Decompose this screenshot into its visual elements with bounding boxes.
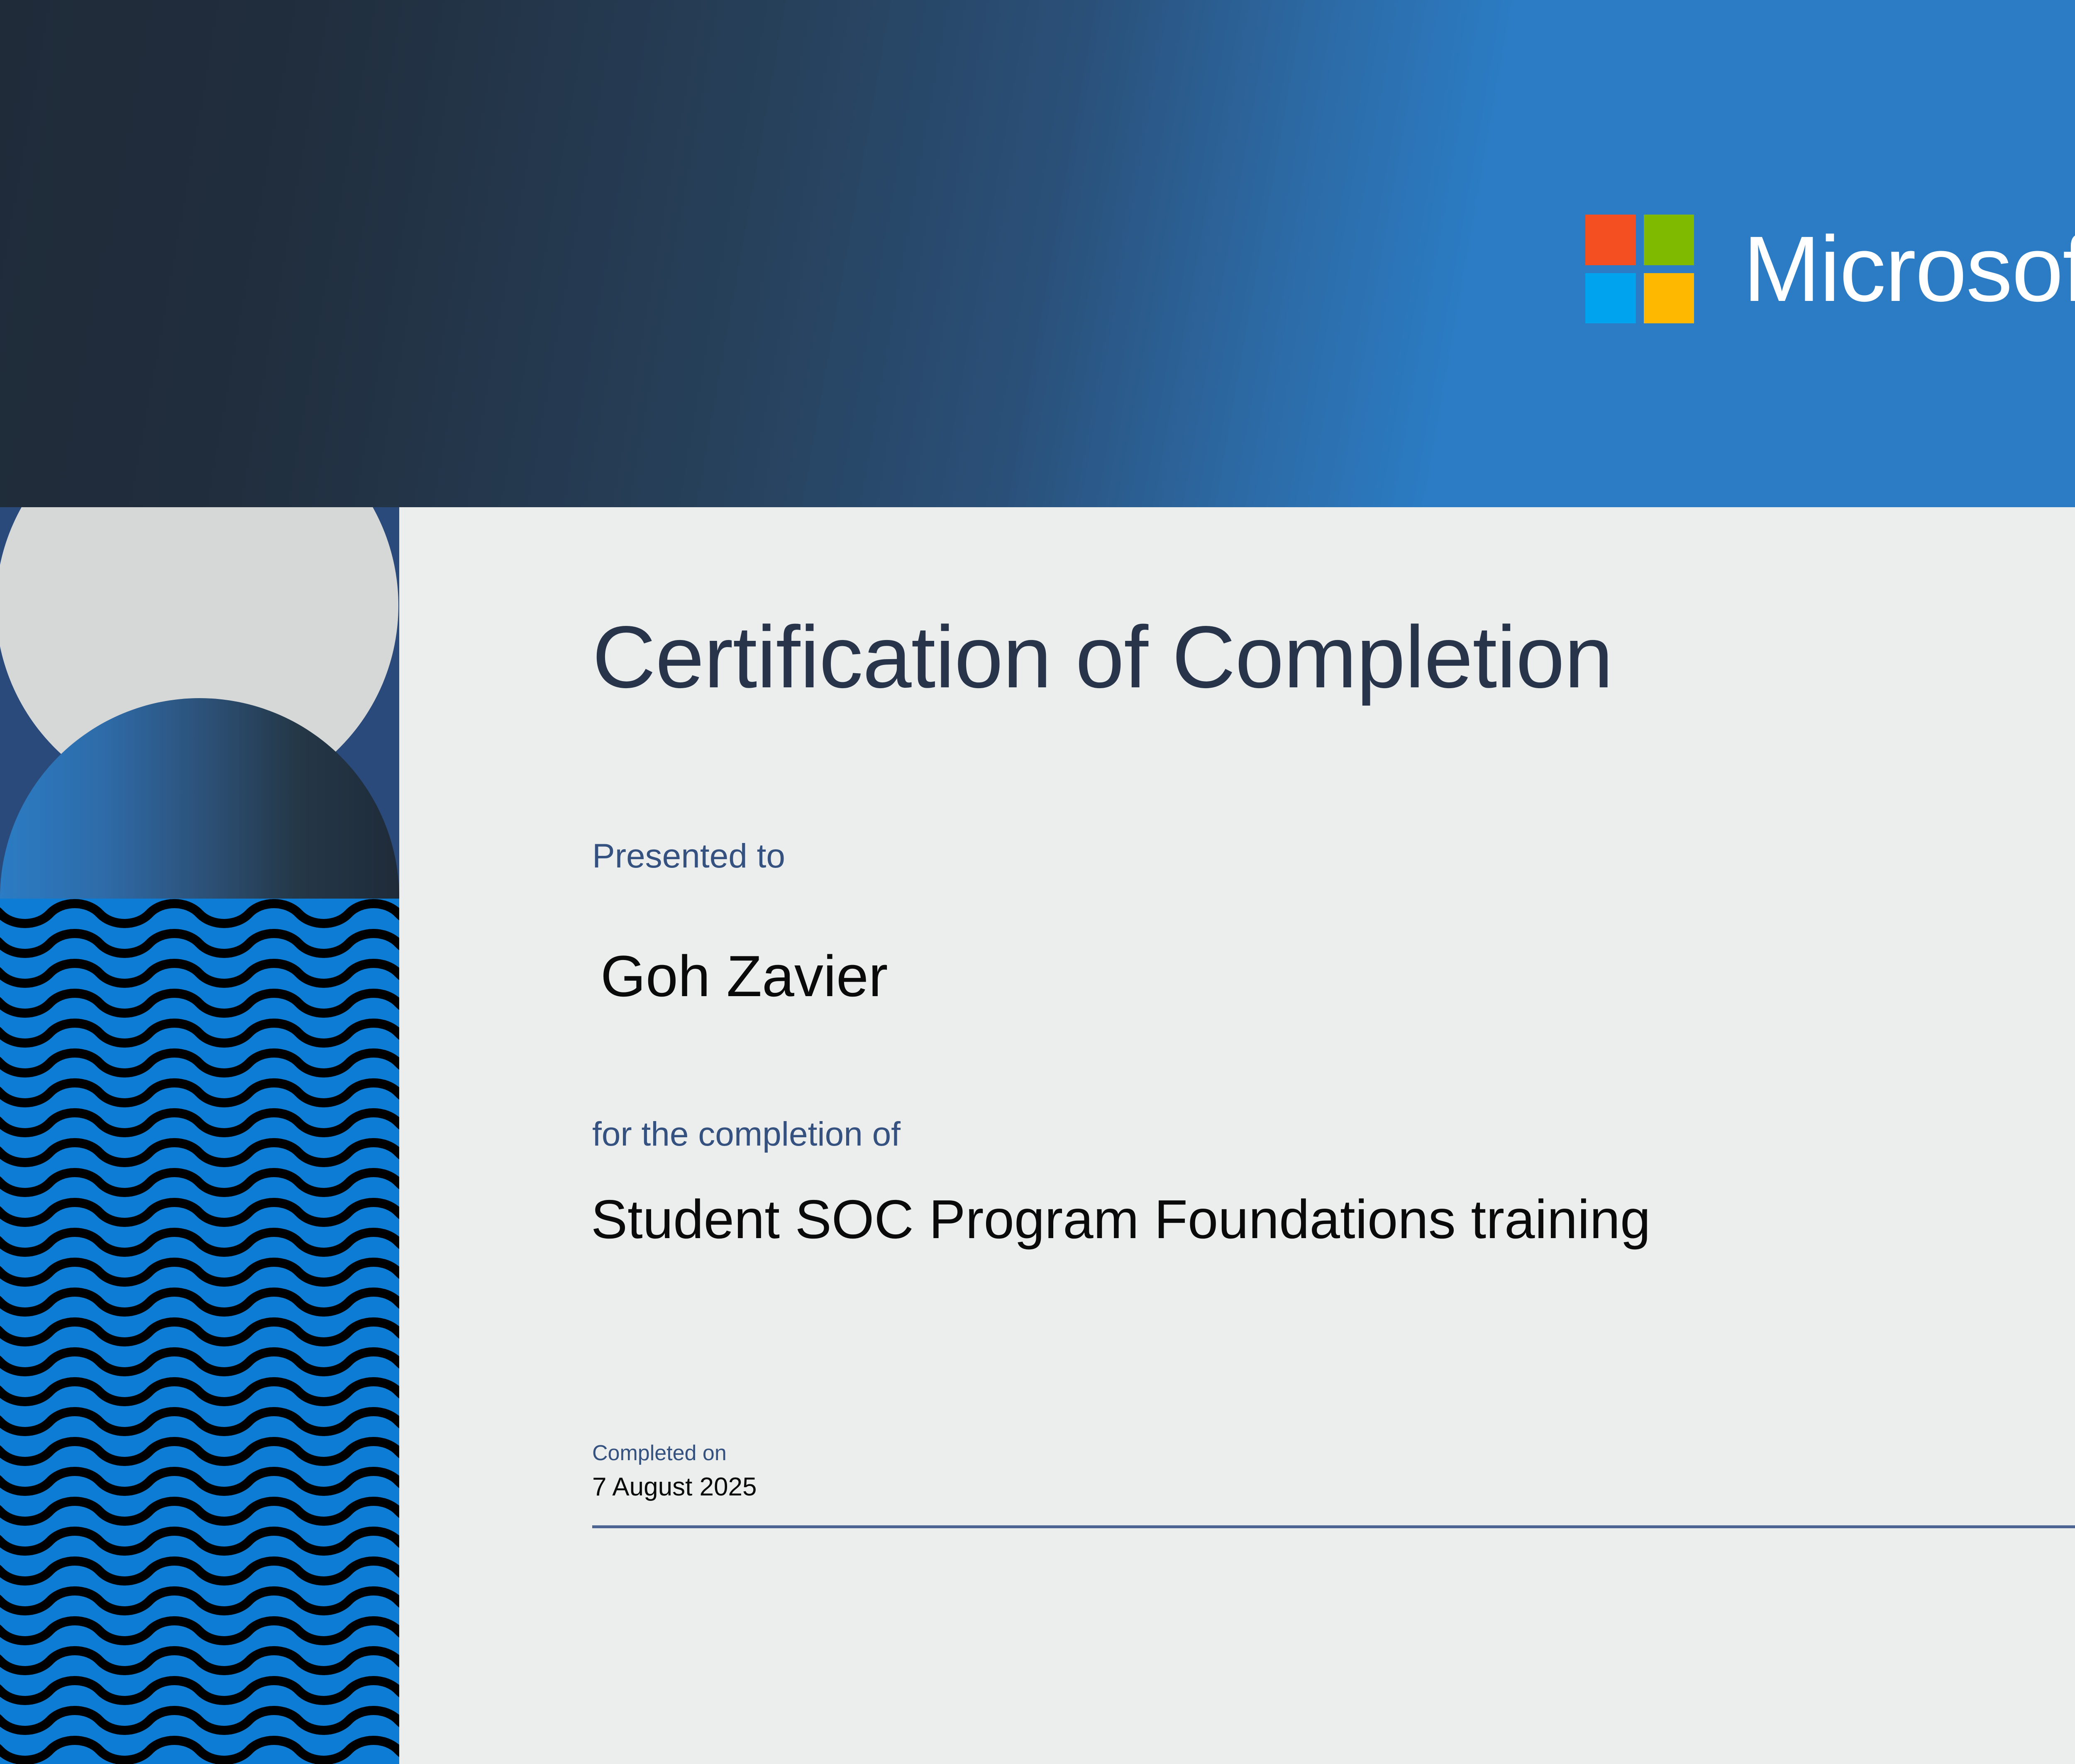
- blue-square: [1585, 273, 1636, 324]
- completed-on-label: Completed on: [592, 1442, 727, 1464]
- green-square: [1644, 215, 1694, 265]
- wave-pattern-shape: [0, 899, 399, 1764]
- for-completion-label: for the completion of: [592, 1117, 901, 1151]
- yellow-square: [1644, 273, 1694, 324]
- decorative-sidebar: [0, 507, 399, 1764]
- certificate-page: Microsoft Certification of Completion Pr…: [0, 0, 2075, 1764]
- completed-on-date: 7 August 2025: [592, 1474, 757, 1500]
- red-square: [1585, 215, 1636, 265]
- certificate-body: Certification of Completion Presented to…: [399, 507, 2075, 1764]
- page-title: Certification of Completion: [592, 613, 1613, 701]
- recipient-name: Goh Zavier: [601, 947, 888, 1005]
- header-band: Microsoft: [0, 0, 2075, 507]
- presented-to-label: Presented to: [592, 839, 785, 873]
- microsoft-logo-squares: [1585, 215, 1694, 323]
- course-name: Student SOC Program Foundations training: [591, 1192, 1650, 1247]
- microsoft-logo-icon: Microsoft: [1585, 207, 2075, 331]
- horizontal-divider: [592, 1525, 2075, 1528]
- microsoft-wordmark: Microsoft: [1743, 222, 2075, 315]
